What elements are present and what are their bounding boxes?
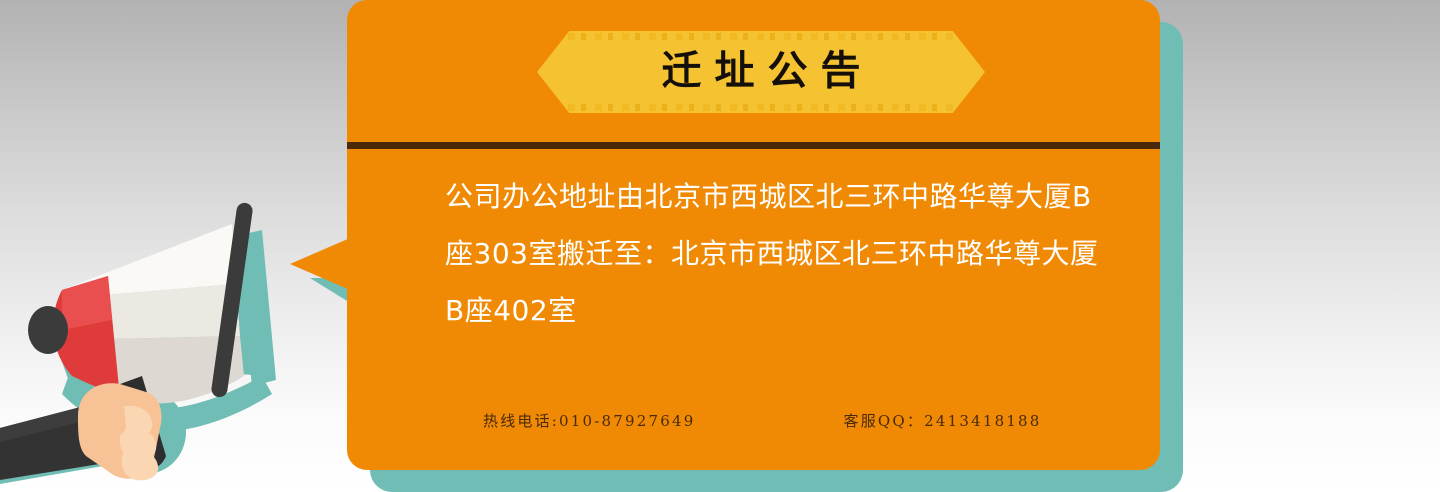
- contact-footer: 热线电话:010-87927649 客服QQ：2413418188: [483, 410, 1103, 431]
- banner-canvas: 迁址公告 公司办公地址由北京市西城区北三环中路华尊大厦B座303室搬迁至：北京市…: [0, 0, 1440, 492]
- megaphone-knob: [28, 306, 68, 354]
- announcement-body: 公司办公地址由北京市西城区北三环中路华尊大厦B座303室搬迁至：北京市西城区北三…: [445, 168, 1105, 339]
- title-badge: 迁址公告: [537, 31, 985, 113]
- hotline-text: 热线电话:010-87927649: [483, 410, 696, 431]
- qq-text: 客服QQ：2413418188: [844, 410, 1042, 431]
- header-divider: [347, 142, 1160, 149]
- speech-tail: [290, 238, 350, 290]
- megaphone-illustration: [0, 180, 350, 492]
- page-title: 迁址公告: [537, 31, 985, 113]
